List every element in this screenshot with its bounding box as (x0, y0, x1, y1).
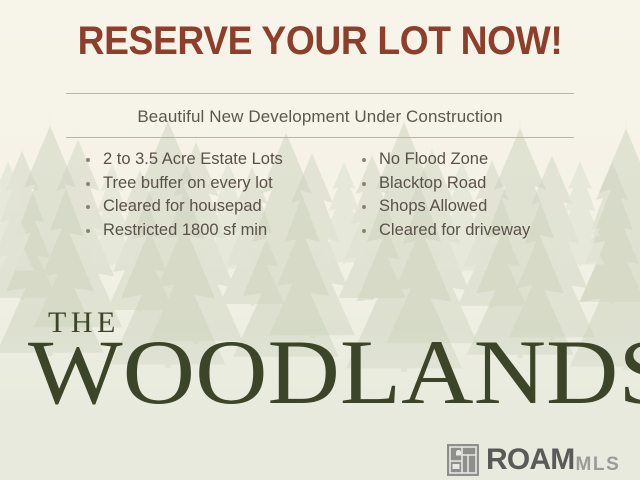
page-title: RESERVE YOUR LOT NOW! (22, 19, 617, 63)
feature-list-left: 2 to 3.5 Acre Estate Lots Tree buffer on… (84, 148, 354, 242)
listing-flyer: RESERVE YOUR LOT NOW! Beautiful New Deve… (0, 0, 640, 480)
divider-bottom (66, 137, 574, 138)
list-item: Cleared for housepad (84, 195, 354, 219)
logo-woodlands: WOODLANDS (28, 326, 640, 418)
development-logo: THE WOODLANDS (0, 300, 640, 420)
floor-plan-house-icon (447, 444, 479, 476)
feature-list-right: No Flood Zone Blacktop Road Shops Allowe… (360, 148, 630, 242)
roam-mls-watermark: ROAM MLS (447, 444, 620, 476)
divider-top (66, 93, 574, 94)
list-item: Blacktop Road (360, 172, 630, 196)
list-item: Shops Allowed (360, 195, 630, 219)
list-item: Cleared for driveway (360, 219, 630, 243)
list-item: No Flood Zone (360, 148, 630, 172)
mls-suffix-text: MLS (575, 455, 620, 474)
roam-brand-text: ROAM (486, 445, 574, 475)
list-item: Restricted 1800 sf min (84, 219, 354, 243)
list-item: 2 to 3.5 Acre Estate Lots (84, 148, 354, 172)
subtitle: Beautiful New Development Under Construc… (0, 103, 640, 131)
list-item: Tree buffer on every lot (84, 172, 354, 196)
